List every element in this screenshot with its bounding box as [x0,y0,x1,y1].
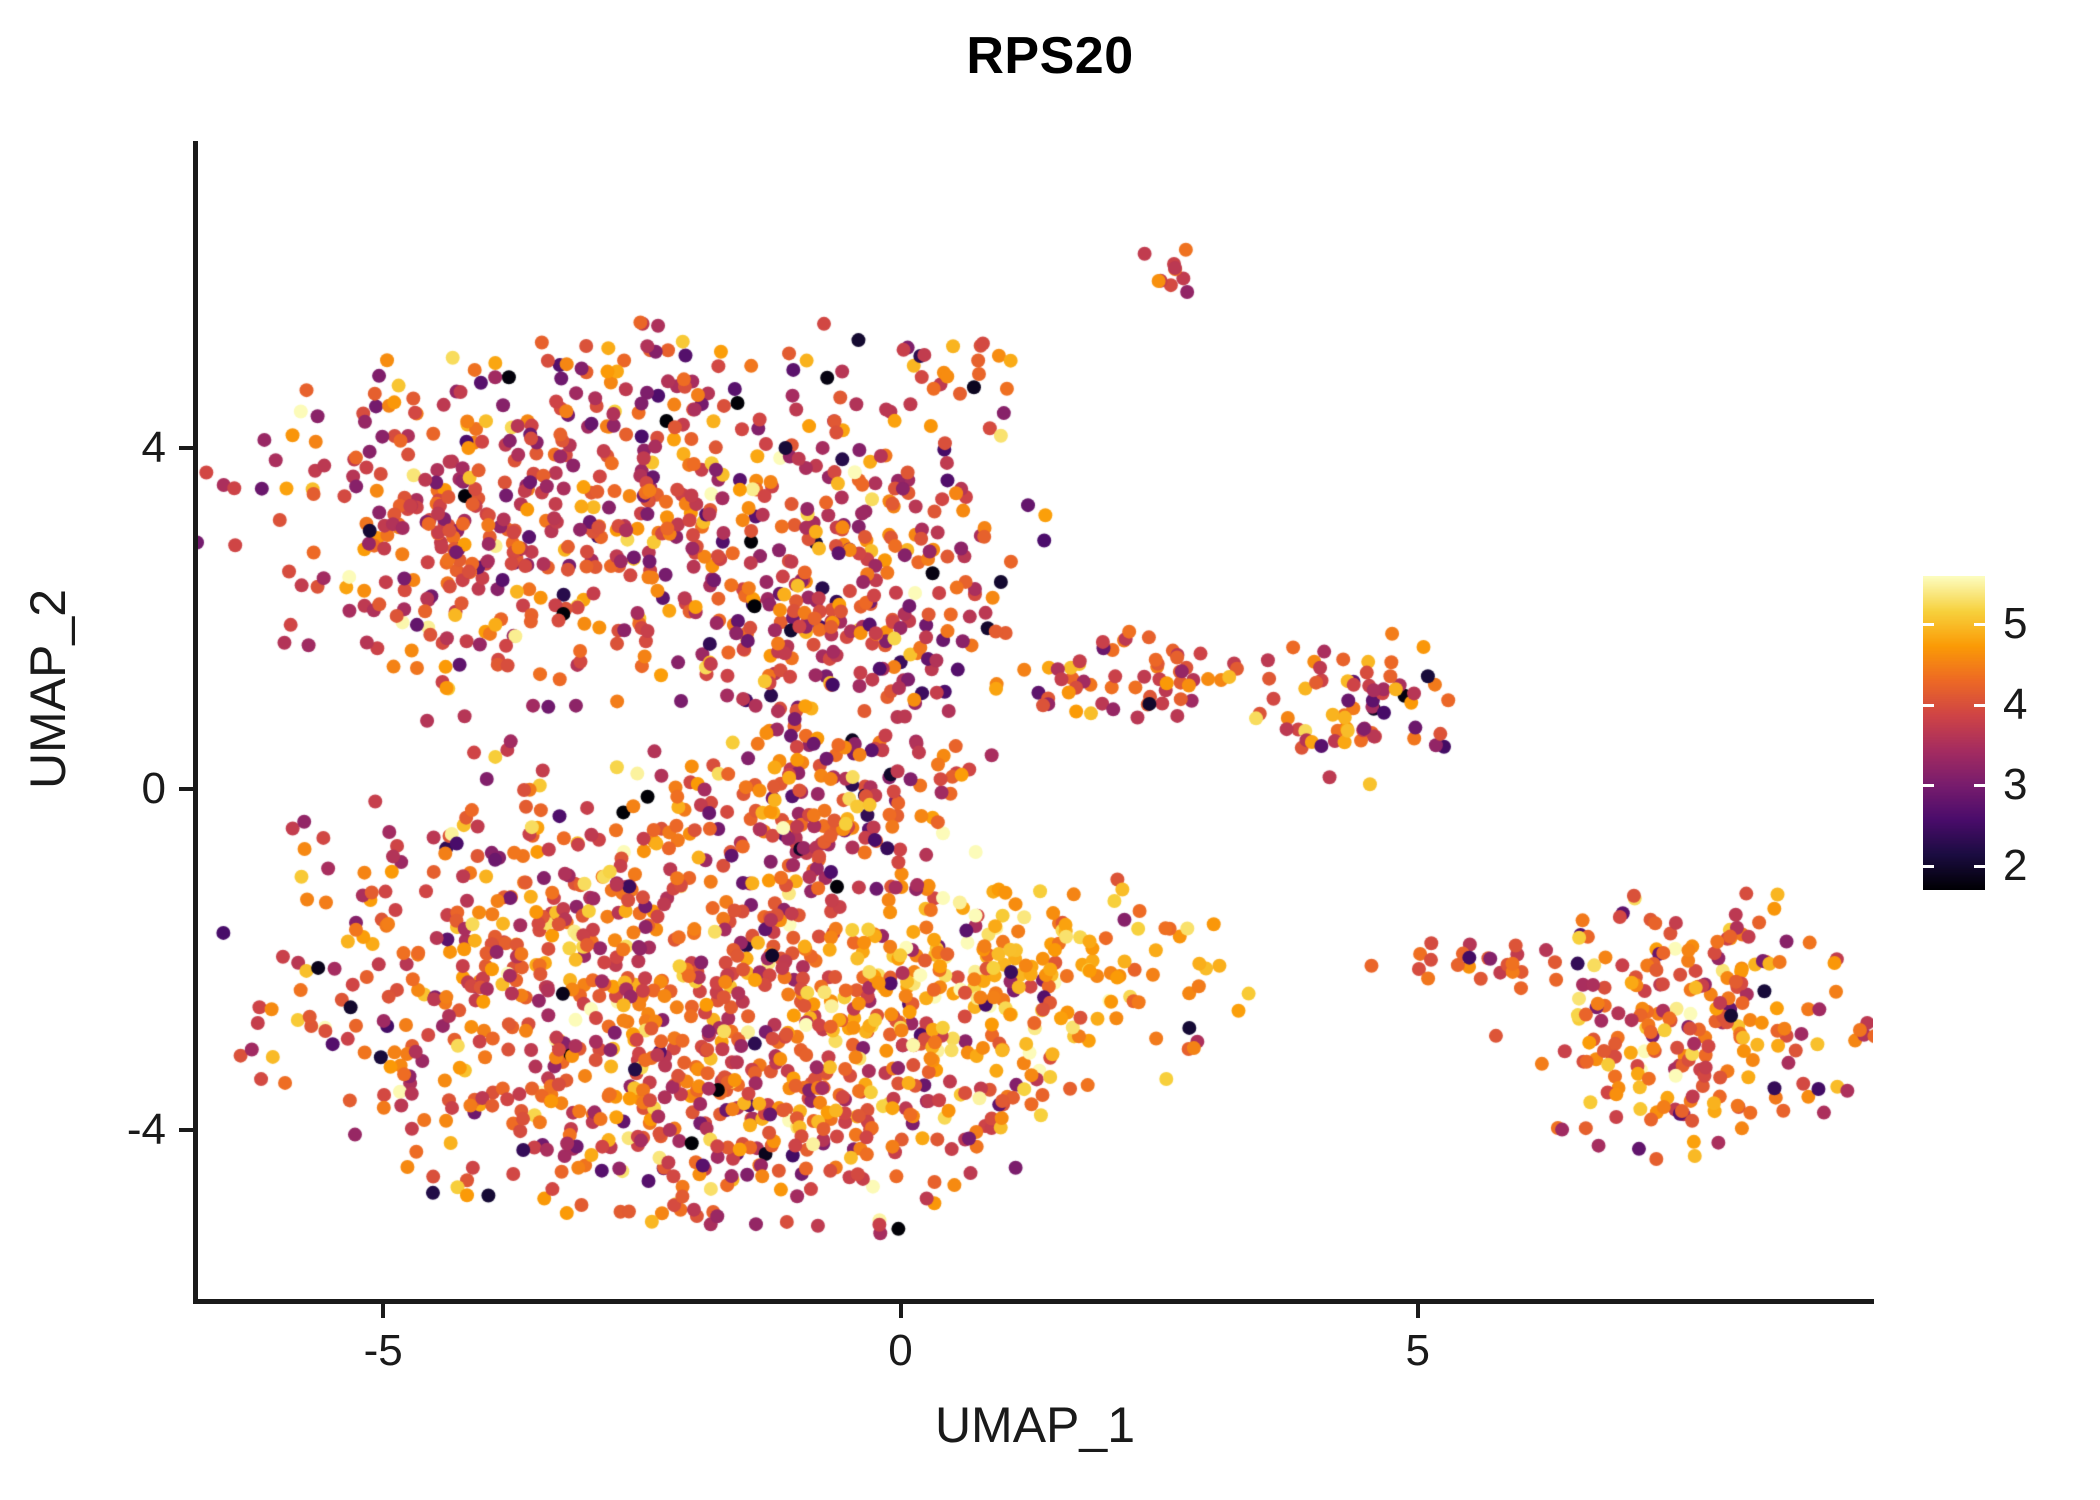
x-tick-label: 5 [1406,1326,1430,1376]
y-tick-mark [179,1128,193,1132]
figure-root: RPS20 4 0 -4 -5 0 5 UMAP_2 UMAP_1 5 4 3 … [0,0,2100,1500]
x-axis-line [193,1299,1874,1304]
legend-tick-mark [1923,865,1934,868]
x-tick-label: 0 [888,1326,912,1376]
y-tick-label: 4 [142,423,166,473]
legend-tick-mark [1974,704,1985,707]
legend-tick-mark [1923,784,1934,787]
legend-tick-mark [1923,623,1934,626]
legend-tick-label: 2 [2003,841,2027,891]
legend-tick-mark [1974,623,1985,626]
y-tick-label: 0 [142,764,166,814]
scatter-plot-canvas [197,141,1873,1300]
y-axis-title: UMAP_2 [19,489,77,889]
y-tick-mark [179,787,193,791]
legend-tick-label: 4 [2003,680,2027,730]
x-tick-mark [1416,1304,1420,1318]
x-tick-mark [381,1304,385,1318]
y-tick-mark [179,446,193,450]
legend-tick-mark [1974,865,1985,868]
y-axis-line [193,141,198,1303]
x-tick-mark [899,1304,903,1318]
legend-tick-label: 5 [2003,599,2027,649]
page-title: RPS20 [0,26,2100,86]
legend-tick-mark [1923,704,1934,707]
x-tick-label: -5 [364,1326,403,1376]
legend-tick-label: 3 [2003,760,2027,810]
plot-panel [197,141,1873,1300]
x-axis-title: UMAP_1 [197,1396,1873,1454]
y-tick-label: -4 [127,1105,166,1155]
legend-tick-mark [1974,784,1985,787]
